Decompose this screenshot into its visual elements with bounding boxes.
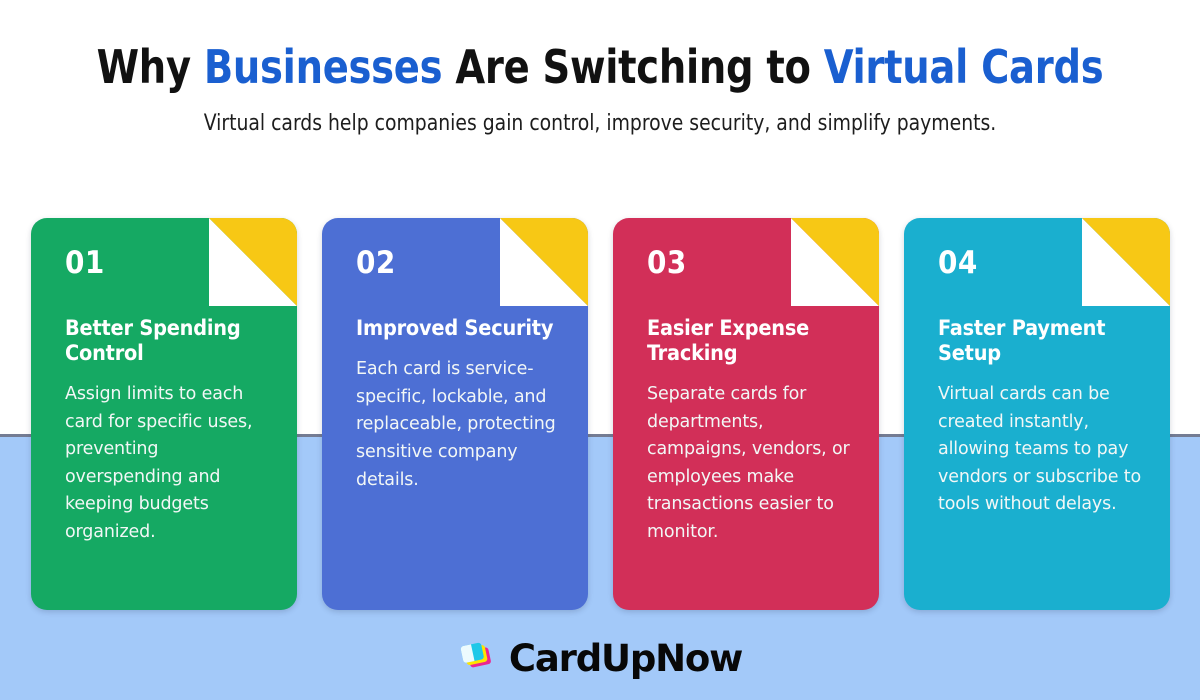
brand-name: CardUpNow — [509, 640, 742, 677]
card-body-text: Assign limits to each card for specific … — [65, 381, 269, 547]
card-body-text: Virtual cards can be created instantly, … — [938, 381, 1142, 519]
card-number: 04 — [938, 248, 1144, 279]
benefit-card[interactable]: 01 Better Spending Control Assign limits… — [31, 218, 297, 610]
benefit-card-list: 01 Better Spending Control Assign limits… — [31, 218, 1170, 610]
brand-logo[interactable]: CardUpNow — [0, 628, 1200, 688]
card-body-text: Separate cards for departments, campaign… — [647, 381, 851, 547]
card-title: Improved Security — [356, 317, 556, 342]
card-title: Easier Expense Tracking — [647, 317, 847, 367]
header: Why Businesses Are Switching to Virtual … — [0, 0, 1200, 137]
card-number: 01 — [65, 248, 271, 279]
benefit-card[interactable]: 02 Improved Security Each card is servic… — [322, 218, 588, 610]
title-segment-2: Are Switching to — [442, 40, 823, 94]
page-subtitle: Virtual cards help companies gain contro… — [30, 94, 1170, 138]
infographic-poster: Why Businesses Are Switching to Virtual … — [0, 0, 1200, 700]
card-title: Better Spending Control — [65, 317, 265, 367]
title-accent-virtual-cards: Virtual Cards — [824, 40, 1104, 94]
benefit-card[interactable]: 04 Faster Payment Setup Virtual cards ca… — [904, 218, 1170, 610]
benefit-card[interactable]: 03 Easier Expense Tracking Separate card… — [613, 218, 879, 610]
page-title: Why Businesses Are Switching to Virtual … — [42, 0, 1158, 94]
card-number: 03 — [647, 248, 853, 279]
title-accent-businesses: Businesses — [204, 40, 442, 94]
card-body-text: Each card is service-specific, lockable,… — [356, 356, 560, 494]
card-number: 02 — [356, 248, 562, 279]
card-title: Faster Payment Setup — [938, 317, 1138, 367]
title-segment-1: Why — [97, 40, 204, 94]
card-stack-icon — [458, 638, 500, 678]
